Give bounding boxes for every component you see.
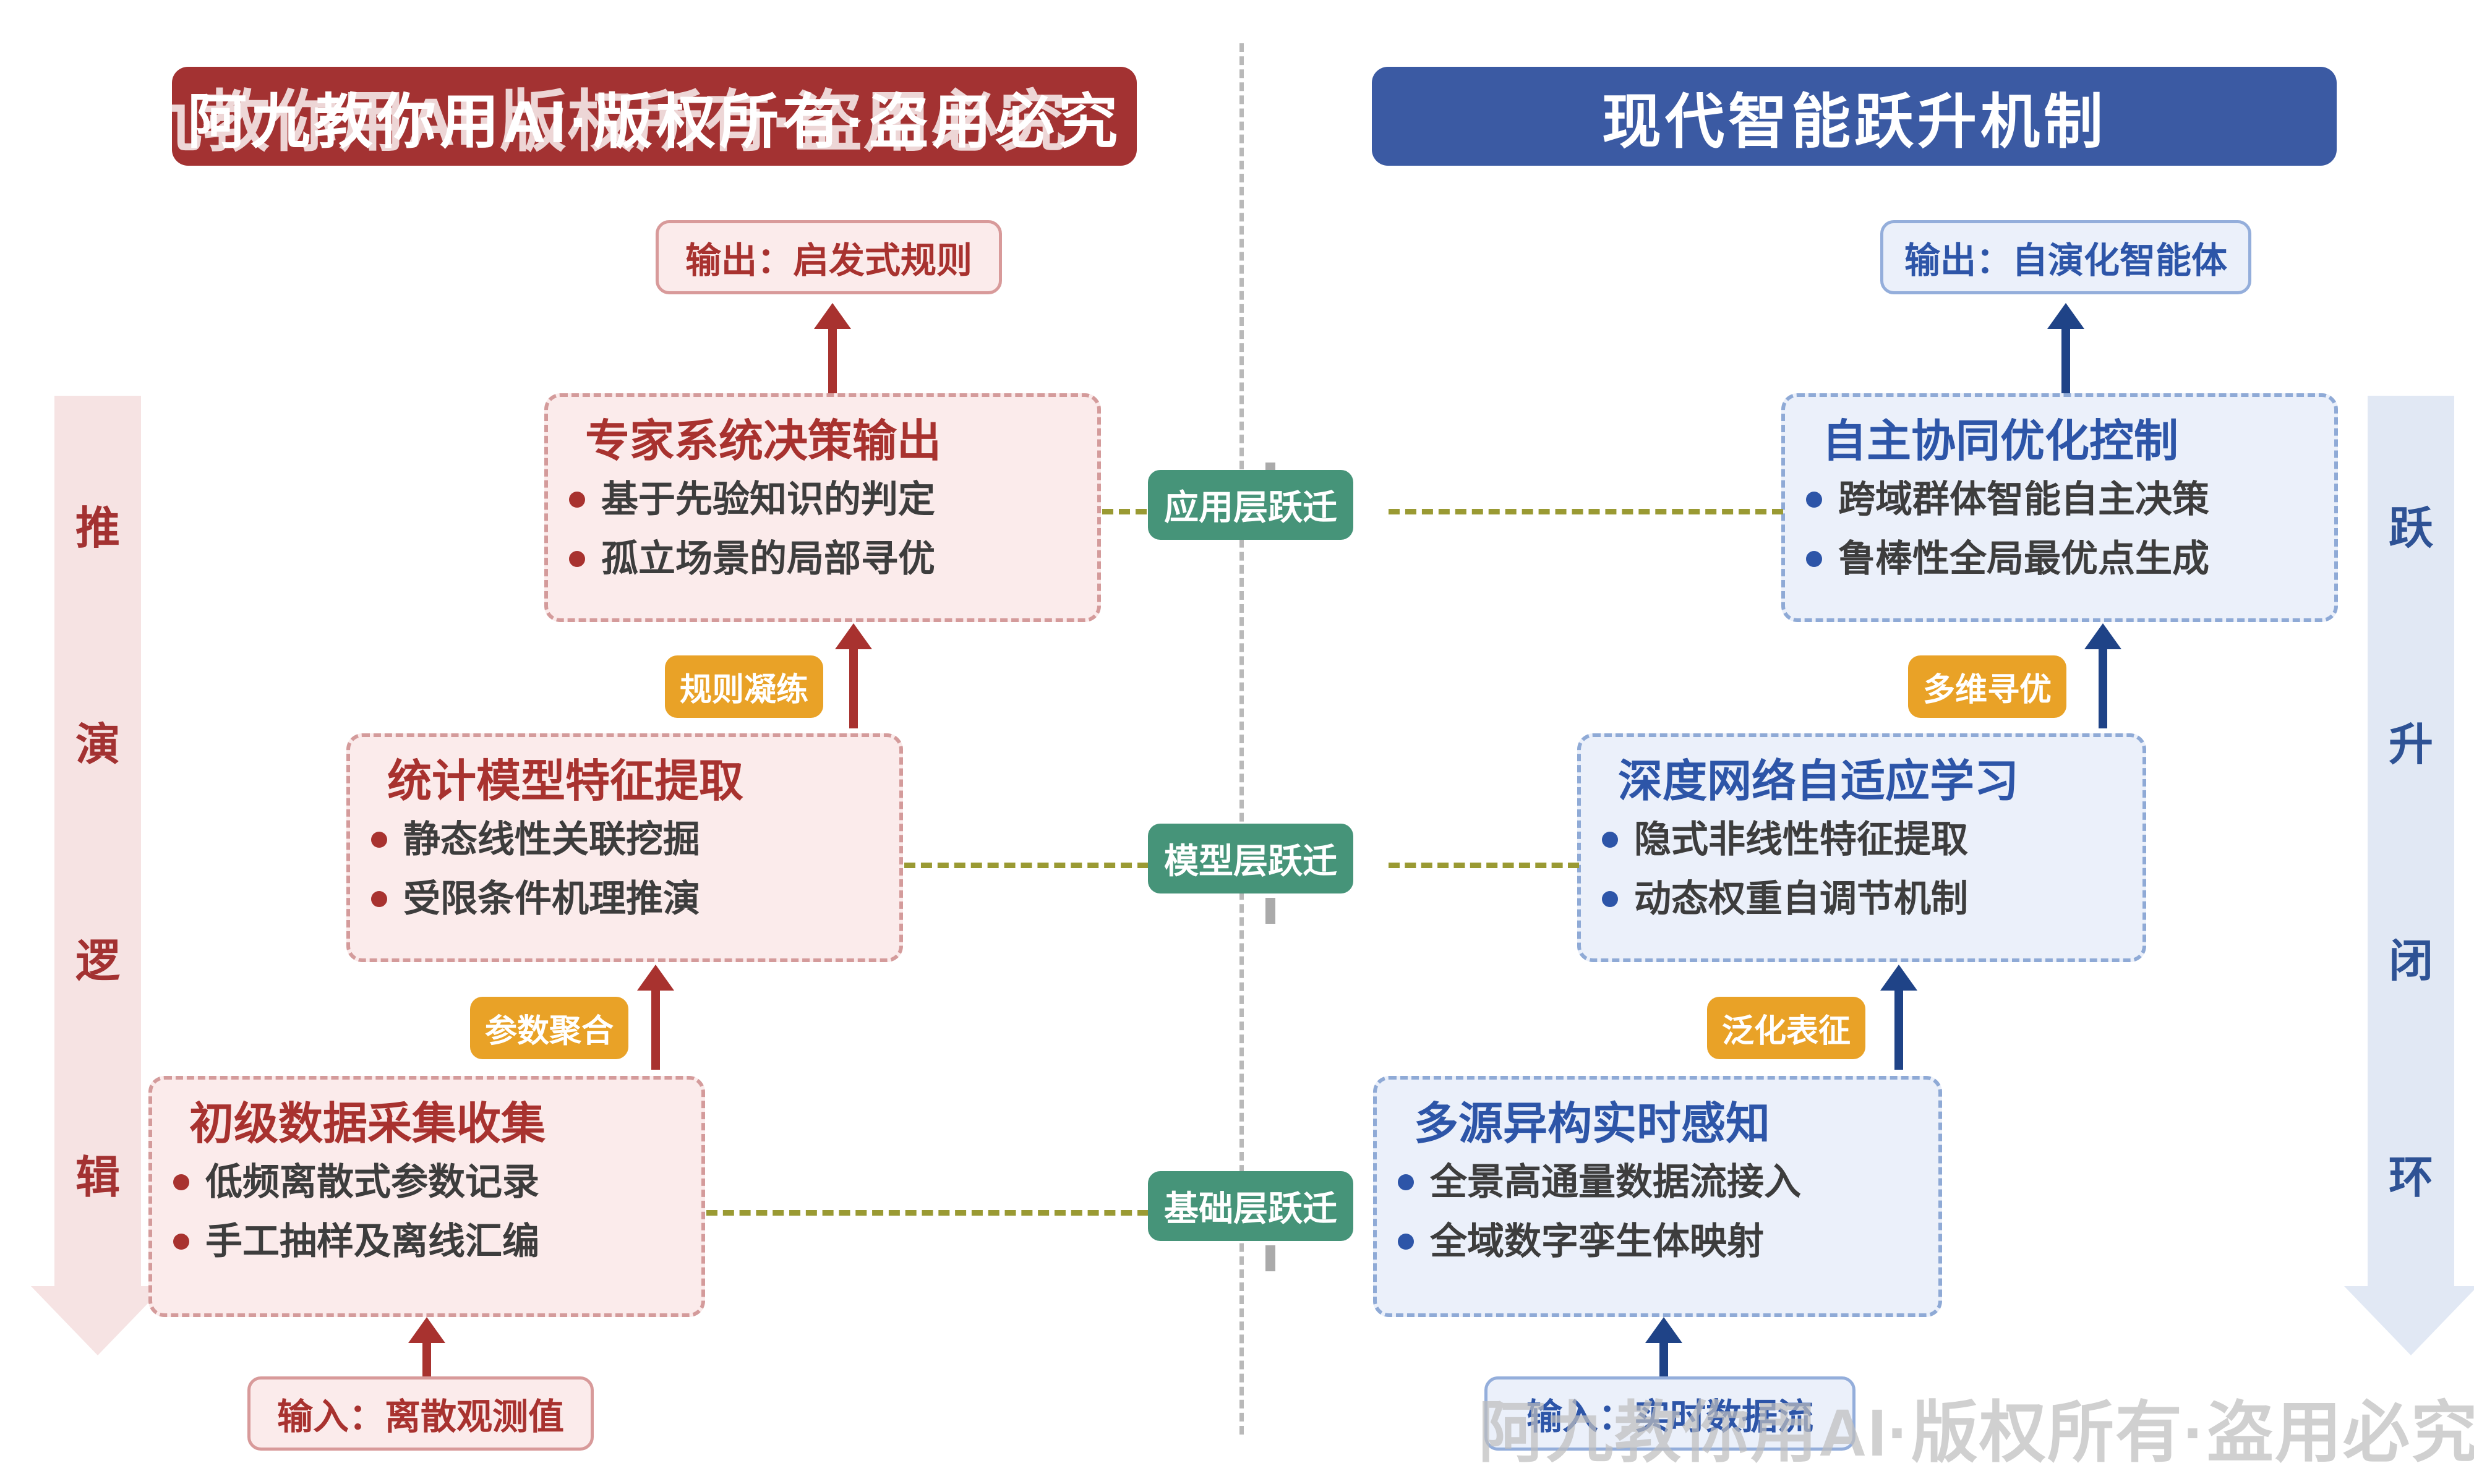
left-flow-char-2: 逻: [75, 939, 120, 984]
left-arrow-node3-to-node2-tip: [637, 965, 674, 991]
left-node-3-bullets: 低频离散式参数记录 手工抽样及离线汇编: [173, 1162, 680, 1262]
transition-link-2-right: [1389, 863, 1579, 868]
bullet-dot-icon: [371, 832, 387, 848]
left-flow-char-3: 辑: [75, 1156, 120, 1200]
transition-badge-2-stub-bottom: [1265, 898, 1275, 924]
left-arrow-node2-to-node1-line: [849, 648, 858, 728]
transition-badge-3-stub-bottom: [1265, 1245, 1275, 1271]
left-arrow-node3-to-node2: [637, 965, 674, 1070]
left-header-title: 阿九教你用AI·版权所有·盗用必究: [187, 74, 1121, 160]
left-node-2: 统计模型特征提取 静态线性关联挖掘 受限条件机理推演: [346, 733, 903, 962]
right-arrow-node2-to-node1: [2084, 623, 2121, 728]
right-arrow-node3-to-node2: [1880, 965, 1917, 1070]
left-output-pill-label: 输出：启发式规则: [685, 231, 972, 283]
right-node-3-title: 多源异构实时感知: [1414, 1098, 1917, 1151]
transition-badge-2-label: 模型层跃迁: [1164, 834, 1337, 884]
right-flow-arrow-head: [2344, 1286, 2474, 1355]
right-output-pill: 输出：自演化智能体: [1880, 220, 2251, 294]
list-item: 受限条件机理推演: [371, 879, 878, 919]
bullet-dot-icon: [173, 1174, 189, 1190]
left-output-pill: 输出：启发式规则: [656, 220, 1002, 294]
transition-link-2-left: [904, 863, 1149, 868]
list-item: 动态权重自调节机制: [1602, 879, 2121, 919]
transition-badge-1-label: 应用层跃迁: [1164, 480, 1337, 530]
bullet-dot-icon: [1806, 492, 1822, 508]
right-node-2-bullet-1: 动态权重自调节机制: [1634, 879, 1968, 919]
diagram-canvas: 阿九教你用AI·版权所有·盗用必究 现代智能跃升机制 推 演 逻 辑 跃 升 闭…: [0, 0, 2474, 1484]
right-flow-char-2: 闭: [2389, 939, 2433, 984]
right-node-3-bullet-1: 全域数字孪生体映射: [1430, 1221, 1764, 1262]
bullet-dot-icon: [569, 492, 585, 508]
bullet-dot-icon: [173, 1234, 189, 1250]
right-node-2-title: 深度网络自适应学习: [1618, 756, 2121, 808]
right-input-pill-label: 输入：实时数据流: [1526, 1388, 1813, 1439]
right-step-badge-1-label: 多维寻优: [1923, 663, 2052, 710]
left-flow-char-1: 演: [75, 723, 120, 767]
right-step-badge-2-label: 泛化表征: [1722, 1005, 1851, 1051]
right-node-1-bullet-1: 鲁棒性全局最优点生成: [1838, 539, 2209, 579]
right-arrow-to-output-tip: [2047, 303, 2084, 329]
list-item: 基于先验知识的判定: [569, 479, 1076, 520]
left-arrow-to-output-line: [828, 328, 837, 402]
transition-badge-3-label: 基础层跃迁: [1164, 1181, 1337, 1231]
bullet-dot-icon: [1398, 1234, 1414, 1250]
list-item: 静态线性关联挖掘: [371, 819, 878, 860]
left-arrow-node2-to-node1-tip: [835, 623, 872, 649]
left-arrow-node2-to-node1: [835, 623, 872, 728]
left-node-1-bullet-0: 基于先验知识的判定: [601, 479, 935, 520]
right-node-3-bullet-0: 全景高通量数据流接入: [1430, 1162, 1801, 1203]
left-node-2-title: 统计模型特征提取: [387, 756, 878, 808]
right-flow-arrow-shaft: 跃 升 闭 环: [2368, 396, 2454, 1286]
list-item: 全景高通量数据流接入: [1398, 1162, 1917, 1203]
left-node-3-title: 初级数据采集收集: [189, 1098, 680, 1151]
list-item: 孤立场景的局部寻优: [569, 539, 1076, 579]
right-arrow-input-to-node3-tip: [1645, 1317, 1682, 1343]
left-input-pill: 输入：离散观测值: [247, 1376, 594, 1451]
right-node-1: 自主协同优化控制 跨域群体智能自主决策 鲁棒性全局最优点生成: [1781, 393, 2338, 622]
right-node-2-bullet-0: 隐式非线性特征提取: [1634, 819, 1968, 860]
transition-badge-3[interactable]: 基础层跃迁: [1148, 1171, 1353, 1241]
right-header-title: 现代智能跃升机制: [1602, 74, 2107, 160]
list-item: 隐式非线性特征提取: [1602, 819, 2121, 860]
right-column-header: 现代智能跃升机制: [1372, 67, 2337, 166]
left-flow-char-0: 推: [75, 506, 120, 551]
left-node-3: 初级数据采集收集 低频离散式参数记录 手工抽样及离线汇编: [148, 1076, 705, 1317]
left-step-badge-1[interactable]: 规则凝练: [665, 655, 823, 718]
right-flow-char-1: 升: [2389, 723, 2433, 767]
left-node-1-bullets: 基于先验知识的判定 孤立场景的局部寻优: [569, 479, 1076, 579]
left-node-2-bullet-1: 受限条件机理推演: [403, 879, 700, 919]
left-node-3-bullet-0: 低频离散式参数记录: [205, 1162, 539, 1203]
left-node-2-bullet-0: 静态线性关联挖掘: [403, 819, 700, 860]
left-arrow-input-to-node3-tip: [408, 1317, 445, 1343]
transition-link-3-left: [706, 1210, 1149, 1216]
right-arrow-node3-to-node2-line: [1894, 989, 1903, 1070]
bullet-dot-icon: [569, 551, 585, 567]
transition-badge-2[interactable]: 模型层跃迁: [1148, 824, 1353, 893]
right-node-1-title: 自主协同优化控制: [1822, 416, 2313, 468]
left-input-pill-label: 输入：离散观测值: [277, 1388, 564, 1439]
bullet-dot-icon: [1602, 832, 1618, 848]
left-column-header: 阿九教你用AI·版权所有·盗用必究: [172, 67, 1137, 166]
right-input-pill: 输入：实时数据流: [1484, 1376, 1856, 1451]
right-arrow-node2-to-node1-tip: [2084, 623, 2121, 649]
right-node-1-bullet-0: 跨域群体智能自主决策: [1838, 479, 2209, 520]
right-flow-char-3: 环: [2389, 1156, 2433, 1200]
right-node-2-bullets: 隐式非线性特征提取 动态权重自调节机制: [1602, 819, 2121, 919]
left-node-1-title: 专家系统决策输出: [585, 416, 1076, 468]
right-node-2: 深度网络自适应学习 隐式非线性特征提取 动态权重自调节机制: [1577, 733, 2146, 962]
list-item: 低频离散式参数记录: [173, 1162, 680, 1203]
left-node-1-bullet-1: 孤立场景的局部寻优: [601, 539, 935, 579]
left-node-1: 专家系统决策输出 基于先验知识的判定 孤立场景的局部寻优: [544, 393, 1101, 622]
right-output-pill-label: 输出：自演化智能体: [1904, 231, 2227, 283]
bullet-dot-icon: [1398, 1174, 1414, 1190]
left-step-badge-1-label: 规则凝练: [680, 663, 808, 710]
right-arrow-to-output: [2047, 303, 2084, 402]
bullet-dot-icon: [371, 891, 387, 907]
left-node-2-bullets: 静态线性关联挖掘 受限条件机理推演: [371, 819, 878, 919]
bullet-dot-icon: [1806, 551, 1822, 567]
right-node-3: 多源异构实时感知 全景高通量数据流接入 全域数字孪生体映射: [1373, 1076, 1942, 1317]
right-arrow-node3-to-node2-tip: [1880, 965, 1917, 991]
right-node-1-bullets: 跨域群体智能自主决策 鲁棒性全局最优点生成: [1806, 479, 2313, 579]
right-node-3-bullets: 全景高通量数据流接入 全域数字孪生体映射: [1398, 1162, 1917, 1262]
left-arrow-to-output: [814, 303, 851, 402]
left-flow-arrow-head: [31, 1286, 165, 1355]
left-arrow-node3-to-node2-line: [651, 989, 660, 1070]
bullet-dot-icon: [1602, 891, 1618, 907]
right-flow-char-0: 跃: [2389, 506, 2433, 551]
list-item: 全域数字孪生体映射: [1398, 1221, 1917, 1262]
left-flow-arrow: 推 演 逻 辑: [54, 396, 141, 1355]
left-flow-arrow-shaft: 推 演 逻 辑: [54, 396, 141, 1286]
left-node-3-bullet-1: 手工抽样及离线汇编: [205, 1221, 539, 1262]
right-step-badge-1[interactable]: 多维寻优: [1908, 655, 2066, 718]
left-arrow-to-output-tip: [814, 303, 851, 329]
transition-link-1-right: [1389, 509, 1783, 514]
transition-badge-1[interactable]: 应用层跃迁: [1148, 470, 1353, 540]
list-item: 鲁棒性全局最优点生成: [1806, 539, 2313, 579]
list-item: 手工抽样及离线汇编: [173, 1221, 680, 1262]
left-step-badge-2-label: 参数聚合: [485, 1005, 614, 1051]
list-item: 跨域群体智能自主决策: [1806, 479, 2313, 520]
right-arrow-node2-to-node1-line: [2099, 648, 2107, 728]
left-step-badge-2[interactable]: 参数聚合: [470, 997, 628, 1059]
right-step-badge-2[interactable]: 泛化表征: [1707, 997, 1865, 1059]
right-flow-arrow: 跃 升 闭 环: [2368, 396, 2454, 1355]
right-arrow-to-output-line: [2061, 328, 2070, 402]
